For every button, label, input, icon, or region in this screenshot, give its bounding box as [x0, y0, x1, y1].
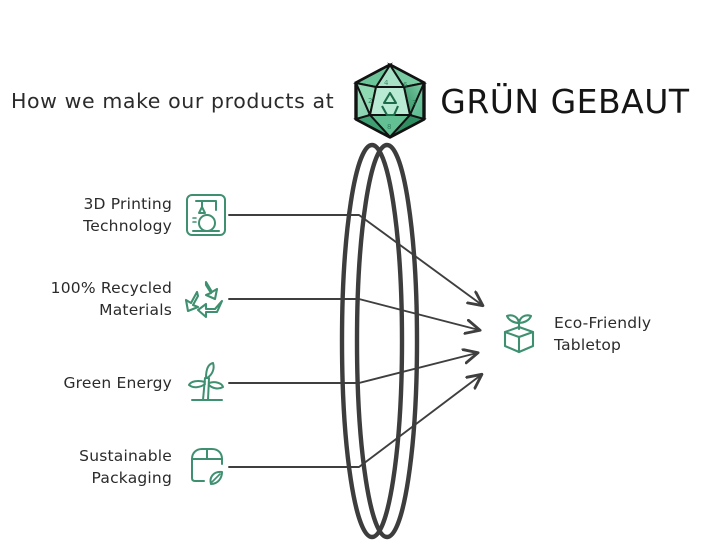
svg-text:3: 3 — [412, 99, 416, 107]
input-recycled-materials[interactable]: 100% Recycled Materials — [0, 269, 228, 329]
svg-text:8: 8 — [387, 123, 391, 131]
connector-line-3 — [229, 353, 477, 383]
connector-line-2 — [229, 299, 479, 330]
page-title: How we make our products at — [11, 91, 334, 112]
input-green-energy[interactable]: Green Energy — [0, 353, 228, 413]
input-label-4: Sustainable Packaging — [79, 445, 172, 489]
input-label-1: 3D Printing Technology — [83, 193, 172, 237]
d20-dice-recycling-icon: 4 6 2 3 8 — [346, 59, 434, 143]
3d-printer-icon — [184, 192, 228, 238]
package-leaf-icon — [184, 444, 228, 490]
lens-disc-shape — [342, 145, 417, 537]
svg-text:2: 2 — [368, 97, 372, 105]
brand-name: Grün Gebaut — [440, 85, 689, 118]
connector-line-1 — [229, 215, 482, 305]
input-sustainable-packaging[interactable]: Sustainable Packaging — [0, 437, 228, 497]
output-eco-friendly-tabletop[interactable]: Eco-Friendly Tabletop — [495, 304, 651, 364]
header: How we make our products at — [0, 62, 703, 140]
svg-text:4: 4 — [384, 79, 389, 87]
input-label-3: Green Energy — [63, 372, 172, 394]
recycling-arrows-icon — [184, 276, 228, 322]
connector-line-4 — [229, 375, 481, 467]
svg-text:6: 6 — [403, 81, 408, 89]
output-label: Eco-Friendly Tabletop — [554, 312, 651, 356]
input-label-2: 100% Recycled Materials — [51, 277, 172, 321]
sprouting-box-icon — [495, 310, 543, 358]
input-3d-printing[interactable]: 3D Printing Technology — [0, 185, 228, 245]
wind-turbine-icon — [184, 360, 228, 406]
